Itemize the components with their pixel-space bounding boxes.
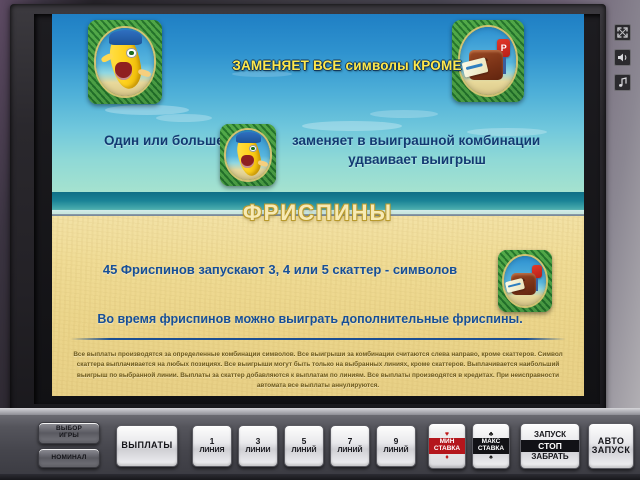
lines-button-1[interactable]: 1 ЛИНИЯ [192,425,232,467]
fullscreen-icon[interactable] [614,24,631,41]
lines-count-5: 5 [302,437,307,446]
lines-word-7: ЛИНИЙ [337,447,362,454]
deck-bottom-edge [0,474,640,480]
min-bet-line2: СТАВКА [429,446,465,453]
club-icon: ♣ [489,431,494,438]
wild-headline: ЗАМЕНЯЕТ ВСЕ символы КРОМЕ [202,58,492,73]
paytable-button[interactable]: ВЫПЛАТЫ [116,425,178,467]
sign-post [503,57,506,74]
banana-eye [126,48,136,58]
game-select-line2: ИГРЫ [59,433,79,440]
min-bet-labels: МИН СТАВКА [429,438,465,454]
heart-icon: ♥ [445,431,449,438]
volume-icon[interactable] [614,49,631,66]
start-stop-collect-button[interactable]: ЗАПУСК СТОП ЗАБРАТЬ [520,423,580,469]
collect-label: ЗАБРАТЬ [531,452,568,462]
spade-icon: ♠ [489,454,493,461]
divider-line [70,338,566,340]
banana-eye [249,145,257,152]
symbol-oval [504,256,546,307]
lines-word-3: ЛИНИИ [245,447,270,454]
wild-explanation-row: Один или больше заменяет в выиграшной ко… [52,124,584,184]
freespins-line-1: 45 Фриспинов запускают 3, 4 или 5 скатте… [70,262,490,277]
lines-word-9: ЛИНИЙ [383,447,408,454]
lines-button-3[interactable]: 3 ЛИНИИ [238,425,278,467]
banana-wild-symbol [88,20,162,104]
stop-label: СТОП [521,440,579,452]
lines-button-9[interactable]: 9 ЛИНИЙ [376,425,416,467]
start-label: ЗАПУСК [534,430,566,440]
auto-line2: ЗАПУСК [592,446,630,455]
max-bet-line2: СТАВКА [473,446,509,453]
banana-mouth [241,155,254,168]
wild-text-after: заменяет в выиграшной комбинации [292,133,540,148]
banana-cap [109,30,142,45]
auto-start-button[interactable]: АВТО ЗАПУСК [588,423,634,469]
lines-word-1: ЛИНИЯ [199,447,224,454]
side-icon-strip [614,24,634,99]
lines-count-9: 9 [394,437,399,446]
max-bet-labels: МАКС СТАВКА [473,438,509,454]
denomination-button[interactable]: НОМИНАЛ [38,448,100,468]
suitcase-scatter-symbol-inline [498,250,552,312]
paytable-label: ВЫПЛАТЫ [121,441,172,450]
deck-top-edge [0,408,640,415]
lines-button-5[interactable]: 5 ЛИНИЙ [284,425,324,467]
control-panel: ВЫБОР ИГРЫ НОМИНАЛ ВЫПЛАТЫ 1 ЛИНИЯ 3 ЛИН… [0,408,640,480]
lines-count-1: 1 [210,437,215,446]
denomination-label: НОМИНАЛ [51,455,86,462]
banana-cap [236,132,261,143]
max-bet-button[interactable]: ♣ МАКС СТАВКА ♠ [472,423,510,469]
freespins-line-2: Во время фриспинов можно выиграть дополн… [60,312,560,326]
lines-count-7: 7 [348,437,353,446]
wild-text-double: удваивает выигрыш [292,152,542,167]
slot-machine-cabinet: P ЗАМЕНЯЕТ ВСЕ символы КРОМЕ Один или бо… [0,0,640,480]
banana-wild-symbol-inline [220,124,276,186]
freespins-title: ФРИСПИНЫ [52,200,584,226]
game-select-button[interactable]: ВЫБОР ИГРЫ [38,422,100,444]
lines-count-3: 3 [256,437,261,446]
min-bet-button[interactable]: ♥ МИН СТАВКА ♦ [428,423,466,469]
diamond-icon: ♦ [445,454,449,461]
symbol-oval [96,28,154,97]
rules-fine-print: Все выплаты производятся за определенные… [64,350,572,392]
wild-text-before: Один или больше [104,133,224,148]
game-screen: P ЗАМЕНЯЕТ ВСЕ символы КРОМЕ Один или бо… [52,14,584,396]
symbol-oval [226,130,270,181]
lines-word-5: ЛИНИЙ [291,447,316,454]
sign-post [536,278,539,291]
lines-button-7[interactable]: 7 ЛИНИЙ [330,425,370,467]
music-note-icon[interactable] [614,74,631,91]
